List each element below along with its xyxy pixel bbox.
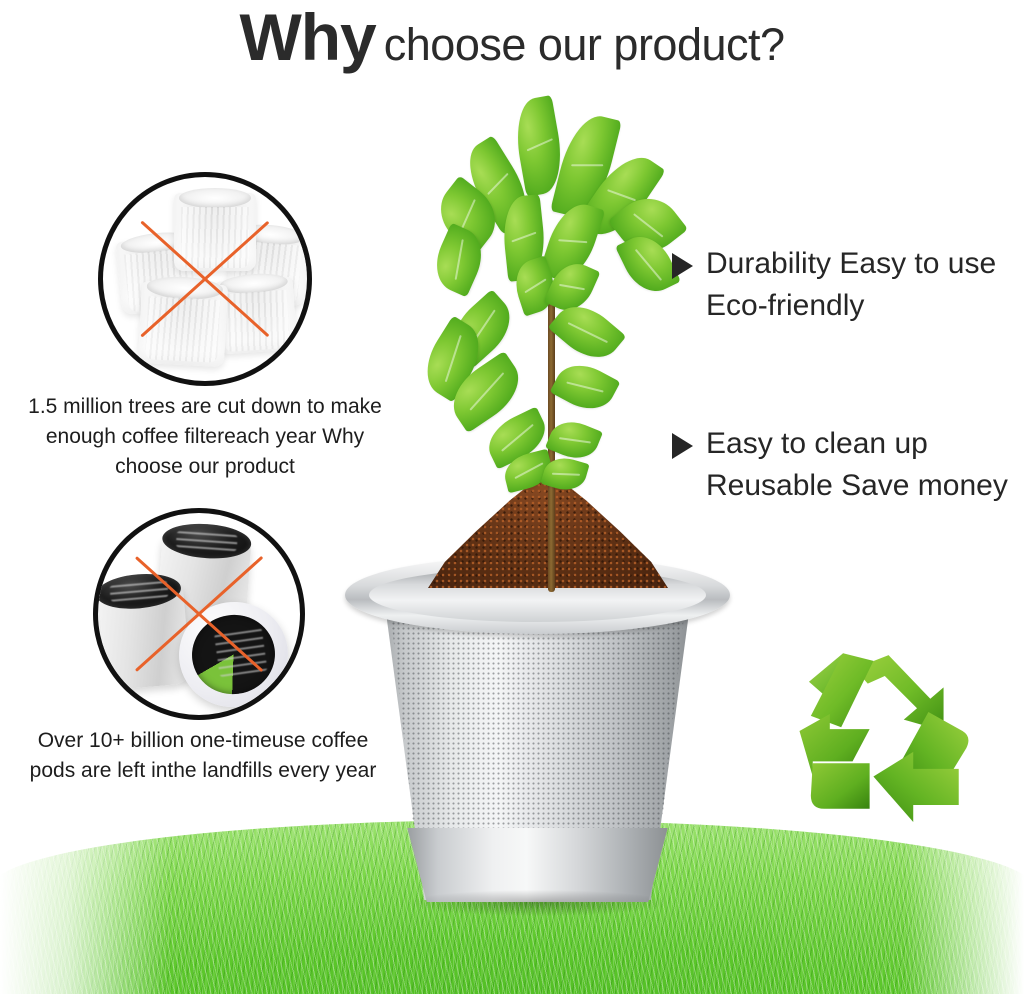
infographic-canvas: Whychoose our product? 1.5 million trees…	[0, 0, 1024, 994]
feature-bullet-2: Easy to clean up Reusable Save money	[672, 423, 1017, 507]
badge-coffee-pods	[93, 508, 305, 720]
feature-bullet-2-text: Easy to clean up Reusable Save money	[706, 423, 1017, 507]
badge-paper-filters	[98, 172, 312, 386]
badge-caption-pods: Over 10+ billion one-timeuse coffee pods…	[14, 726, 392, 786]
grass-fade-right	[904, 816, 1024, 994]
title-rest: choose our product?	[384, 19, 785, 70]
paper-filters-image	[103, 177, 307, 381]
paper-filter-icon	[174, 193, 256, 271]
coffee-pods-image	[98, 513, 300, 715]
coffee-pod-icon	[98, 582, 191, 690]
pod-lid-icon	[161, 521, 252, 561]
recycle-icon	[786, 640, 976, 822]
triangle-right-icon	[672, 433, 693, 459]
feature-bullet-1-text: Durability Easy to use Eco-friendly	[706, 243, 1002, 327]
reusable-coffee-filter	[345, 556, 730, 926]
badge-caption-trees: 1.5 million trees are cut down to make e…	[10, 392, 400, 482]
triangle-right-icon	[672, 253, 693, 279]
feature-bullet-1: Durability Easy to use Eco-friendly	[672, 243, 1002, 327]
pod-lid-icon	[98, 570, 183, 612]
grass-fade-left	[0, 816, 170, 994]
title-emphasis: Why	[239, 0, 375, 74]
page-title: Whychoose our product?	[0, 4, 1024, 70]
filter-mesh-perforations	[371, 616, 704, 834]
plant-leaf	[550, 355, 621, 419]
filter-ground-shadow	[407, 890, 669, 916]
